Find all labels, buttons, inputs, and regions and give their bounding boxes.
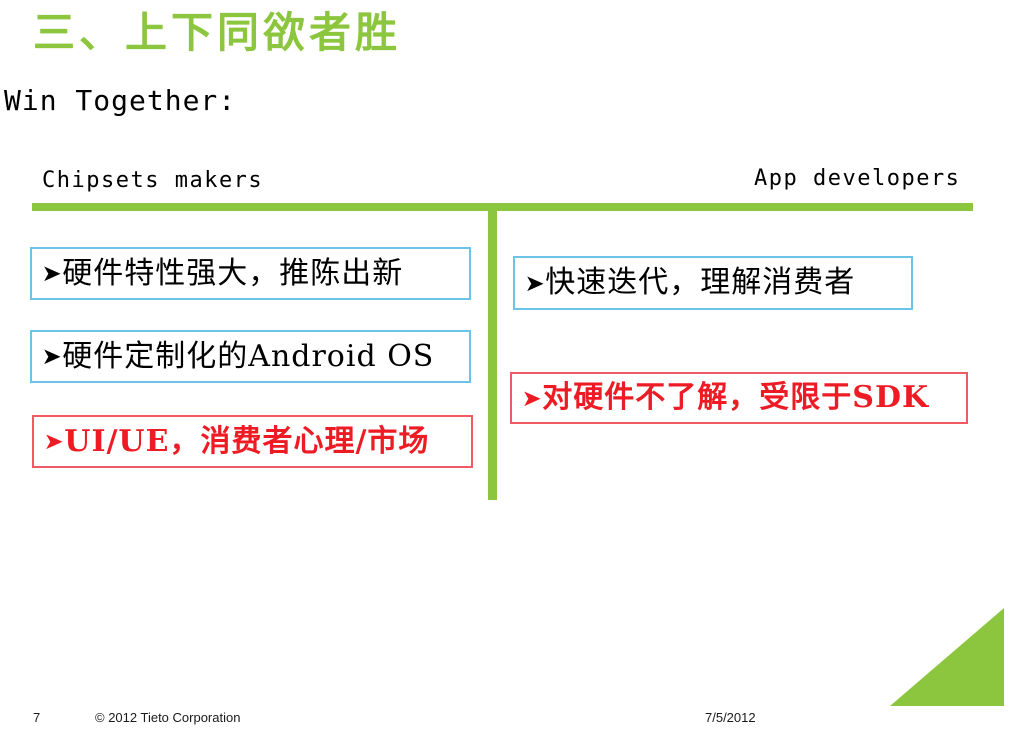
column-header-chipsets-makers: Chipsets makers <box>42 168 263 193</box>
vertical-divider <box>488 203 497 500</box>
bullet-arrow-icon: ➤ <box>42 262 62 285</box>
column-header-app-developers: App developers <box>754 166 960 191</box>
bullet-arrow-icon: ➤ <box>522 387 542 410</box>
page-number: 7 <box>33 710 40 725</box>
bullet-arrow-icon: ➤ <box>525 272 545 295</box>
copyright-notice: © 2012 Tieto Corporation <box>95 710 240 725</box>
bullet-arrow-icon: ➤ <box>42 345 62 368</box>
bullet-box-left-1: ➤ 硬件特性强大，推陈出新 <box>30 247 471 300</box>
bullet-box-right-1: ➤ 快速迭代，理解消费者 <box>513 256 913 310</box>
bullet-arrow-icon: ➤ <box>44 430 64 453</box>
horizontal-divider <box>32 203 973 211</box>
bullet-text: 硬件特性强大，推陈出新 <box>62 259 403 289</box>
bullet-text: 对硬件不了解，受限于SDK <box>542 383 929 413</box>
bullet-text: 硬件定制化的Android OS <box>62 342 434 372</box>
slide-date: 7/5/2012 <box>705 710 756 725</box>
bullet-text: UI/UE，消费者心理/市场 <box>64 427 429 457</box>
page-title: 三、上下同欲者胜 <box>33 8 401 58</box>
tieto-logo: tieto <box>884 608 1004 706</box>
slide-subtitle: Win Together: <box>4 84 236 117</box>
bullet-box-right-2: ➤ 对硬件不了解，受限于SDK <box>510 372 968 424</box>
bullet-text: 快速迭代，理解消费者 <box>545 268 855 298</box>
slide-canvas: 三、上下同欲者胜 Win Together: Chipsets makers A… <box>0 0 1024 732</box>
tieto-logo-mark: tieto <box>884 608 1004 706</box>
bullet-box-left-3: ➤ UI/UE，消费者心理/市场 <box>32 415 473 468</box>
bullet-box-left-2: ➤ 硬件定制化的Android OS <box>30 330 471 383</box>
